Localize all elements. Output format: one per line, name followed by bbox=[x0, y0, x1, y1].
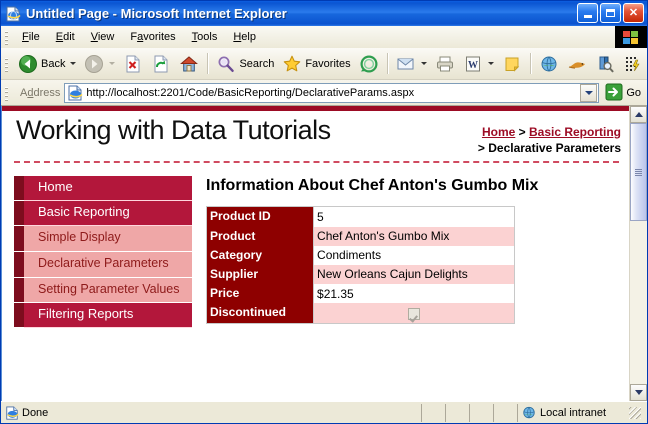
refresh-icon bbox=[151, 54, 171, 74]
table-row: Discontinued bbox=[207, 303, 515, 323]
sidebar-item-label: Basic Reporting bbox=[38, 204, 130, 219]
page-body: Home Basic Reporting Simple Display Decl… bbox=[2, 163, 629, 328]
globe-messenger-icon bbox=[539, 54, 559, 74]
word-document-icon: W bbox=[463, 54, 483, 74]
windows-flag-icon bbox=[615, 26, 647, 48]
home-icon bbox=[179, 54, 199, 74]
menu-gripper[interactable] bbox=[3, 29, 11, 45]
notes-button[interactable] bbox=[498, 52, 526, 76]
back-dropdown-icon[interactable] bbox=[70, 62, 76, 65]
search-icon bbox=[216, 54, 236, 74]
security-zone-pane[interactable]: Local intranet bbox=[517, 404, 647, 422]
research-button[interactable] bbox=[591, 52, 619, 76]
history-clock-icon bbox=[359, 54, 379, 74]
row-label: Supplier bbox=[207, 265, 314, 284]
note-icon bbox=[502, 54, 522, 74]
row-label: Product bbox=[207, 227, 314, 246]
sidebar-item-label: Filtering Reports bbox=[38, 306, 133, 321]
go-label: Go bbox=[626, 87, 641, 99]
sidebar-item-setting-parameter-values[interactable]: Setting Parameter Values bbox=[24, 278, 192, 304]
sidebar-item-label: Home bbox=[38, 179, 73, 194]
ie-document-icon bbox=[5, 6, 21, 22]
content-heading: Information About Chef Anton's Gumbo Mix bbox=[206, 176, 613, 196]
row-value: $21.35 bbox=[314, 284, 515, 303]
row-value bbox=[314, 303, 515, 323]
favorites-button[interactable]: Favorites bbox=[278, 52, 354, 76]
menu-view[interactable]: View bbox=[83, 29, 123, 45]
address-gripper[interactable] bbox=[3, 85, 11, 101]
vertical-scrollbar[interactable] bbox=[629, 106, 647, 401]
row-label: Price bbox=[207, 284, 314, 303]
sidebar-item-simple-display[interactable]: Simple Display bbox=[24, 226, 192, 252]
globe-icon bbox=[522, 406, 536, 420]
menu-tools[interactable]: Tools bbox=[184, 29, 226, 45]
printer-icon bbox=[435, 54, 455, 74]
page-viewport: Working with Data Tutorials Home > Basic… bbox=[1, 106, 647, 401]
navigation-toolbar: Back bbox=[1, 48, 647, 80]
go-arrow-icon bbox=[605, 83, 623, 103]
status-bar: Done Local intranet bbox=[1, 401, 647, 423]
forward-arrow-icon bbox=[84, 54, 104, 74]
scrollbar-grip-icon bbox=[635, 169, 642, 176]
refresh-button[interactable] bbox=[147, 52, 175, 76]
status-pane-2 bbox=[445, 404, 469, 422]
back-arrow-icon bbox=[18, 54, 38, 74]
breadcrumb-sep-2: > bbox=[478, 141, 488, 155]
chevron-down-icon bbox=[635, 390, 643, 395]
chevron-down-icon bbox=[585, 91, 593, 95]
svg-text:W: W bbox=[468, 60, 478, 71]
menu-help[interactable]: Help bbox=[225, 29, 264, 45]
table-row: Supplier New Orleans Cajun Delights bbox=[207, 265, 515, 284]
scrollbar-track[interactable] bbox=[630, 123, 647, 384]
browser-chrome: File Edit View Favorites Tools Help bbox=[1, 26, 647, 106]
forward-dropdown-icon[interactable] bbox=[109, 62, 115, 65]
stop-icon bbox=[123, 54, 143, 74]
menu-file[interactable]: File bbox=[14, 29, 48, 45]
status-pane-1 bbox=[421, 404, 445, 422]
breadcrumb: Home > Basic Reporting > Declarative Par… bbox=[478, 115, 621, 156]
row-value: 5 bbox=[314, 207, 515, 227]
mail-dropdown-icon[interactable] bbox=[421, 62, 427, 65]
menu-edit[interactable]: Edit bbox=[48, 29, 83, 45]
fox-button[interactable] bbox=[563, 52, 591, 76]
window-controls: ✕ bbox=[577, 3, 644, 23]
search-button[interactable]: Search bbox=[212, 52, 278, 76]
extra-tool-button[interactable] bbox=[619, 52, 647, 76]
research-book-icon bbox=[595, 54, 615, 74]
breadcrumb-link-section[interactable]: Basic Reporting bbox=[529, 125, 621, 139]
breadcrumb-link-home[interactable]: Home bbox=[482, 125, 515, 139]
back-button[interactable]: Back bbox=[14, 52, 80, 76]
address-bar: Address http://localhost:2201/Code/Basic… bbox=[1, 80, 647, 106]
detail-view-table: Product ID 5 Product Chef Anton's Gumbo … bbox=[206, 206, 515, 323]
go-button[interactable]: Go bbox=[599, 83, 647, 103]
stop-button[interactable] bbox=[119, 52, 147, 76]
menu-favorites[interactable]: Favorites bbox=[122, 29, 183, 45]
table-row: Product Chef Anton's Gumbo Mix bbox=[207, 227, 515, 246]
status-text-pane: Done bbox=[1, 404, 421, 422]
sidebar-item-declarative-parameters[interactable]: Declarative Parameters bbox=[24, 252, 192, 278]
sidebar-item-label: Setting Parameter Values bbox=[38, 282, 180, 296]
ie-document-icon bbox=[5, 406, 19, 420]
sidebar-item-basic-reporting[interactable]: Basic Reporting bbox=[24, 201, 192, 226]
row-value: Condiments bbox=[314, 246, 515, 265]
table-row: Product ID 5 bbox=[207, 207, 515, 227]
security-zone-text: Local intranet bbox=[540, 407, 606, 419]
toolbar-separator bbox=[207, 53, 208, 74]
edit-word-button[interactable]: W bbox=[459, 52, 498, 76]
menu-bar: File Edit View Favorites Tools Help bbox=[1, 26, 647, 48]
toolbar-separator-3 bbox=[530, 53, 531, 74]
row-value: Chef Anton's Gumbo Mix bbox=[314, 227, 515, 246]
resize-grip-icon[interactable] bbox=[629, 407, 641, 419]
row-value: New Orleans Cajun Delights bbox=[314, 265, 515, 284]
ie-document-icon bbox=[67, 85, 83, 101]
star-icon bbox=[282, 54, 302, 74]
fox-icon bbox=[567, 54, 587, 74]
status-text: Done bbox=[22, 407, 48, 419]
chevron-up-icon bbox=[635, 112, 643, 117]
forward-button[interactable] bbox=[80, 52, 119, 76]
toolbar-separator-2 bbox=[387, 53, 388, 74]
maximize-button[interactable] bbox=[600, 3, 621, 23]
toolbar-gripper[interactable] bbox=[3, 56, 11, 72]
row-label: Product ID bbox=[207, 207, 314, 227]
breadcrumb-current: Declarative Parameters bbox=[488, 141, 621, 155]
back-label: Back bbox=[41, 58, 65, 70]
window-title: Untitled Page - Microsoft Internet Explo… bbox=[26, 6, 287, 21]
row-label: Discontinued bbox=[207, 303, 314, 323]
home-button[interactable] bbox=[175, 52, 203, 76]
address-input[interactable]: http://localhost:2201/Code/BasicReportin… bbox=[64, 83, 599, 103]
sidebar-nav: Home Basic Reporting Simple Display Decl… bbox=[2, 176, 192, 328]
status-pane-3 bbox=[469, 404, 493, 422]
title-bar: Untitled Page - Microsoft Internet Explo… bbox=[1, 1, 647, 26]
page-title: Working with Data Tutorials bbox=[16, 115, 331, 145]
row-label: Category bbox=[207, 246, 314, 265]
scroll-down-button[interactable] bbox=[630, 384, 647, 401]
scroll-up-button[interactable] bbox=[630, 106, 647, 123]
puzzle-lightning-icon bbox=[623, 54, 643, 74]
mail-button[interactable] bbox=[392, 52, 431, 76]
print-button[interactable] bbox=[431, 52, 459, 76]
address-text[interactable]: http://localhost:2201/Code/BasicReportin… bbox=[86, 87, 580, 99]
discontinued-checkbox bbox=[408, 308, 420, 320]
browser-window: Untitled Page - Microsoft Internet Explo… bbox=[0, 0, 648, 424]
table-row: Category Condiments bbox=[207, 246, 515, 265]
table-row: Price $21.35 bbox=[207, 284, 515, 303]
address-dropdown-button[interactable] bbox=[580, 84, 597, 102]
close-button[interactable]: ✕ bbox=[623, 3, 644, 23]
sidebar-item-label: Simple Display bbox=[38, 230, 121, 244]
address-label: Address bbox=[14, 87, 64, 99]
edit-dropdown-icon[interactable] bbox=[488, 62, 494, 65]
messenger-button[interactable] bbox=[535, 52, 563, 76]
sidebar-item-filtering-reports[interactable]: Filtering Reports bbox=[24, 303, 192, 328]
minimize-button[interactable] bbox=[577, 3, 598, 23]
breadcrumb-sep-1: > bbox=[515, 125, 529, 139]
history-button[interactable] bbox=[355, 52, 383, 76]
mail-icon bbox=[396, 54, 416, 74]
sidebar-item-label: Declarative Parameters bbox=[38, 256, 169, 270]
scrollbar-thumb[interactable] bbox=[630, 123, 647, 221]
sidebar-item-home[interactable]: Home bbox=[24, 176, 192, 201]
favorites-label: Favorites bbox=[305, 58, 350, 70]
main-content: Information About Chef Anton's Gumbo Mix… bbox=[192, 176, 629, 328]
search-label: Search bbox=[239, 58, 274, 70]
status-pane-4 bbox=[493, 404, 517, 422]
web-page: Working with Data Tutorials Home > Basic… bbox=[2, 106, 629, 401]
site-header: Working with Data Tutorials Home > Basic… bbox=[2, 111, 629, 158]
